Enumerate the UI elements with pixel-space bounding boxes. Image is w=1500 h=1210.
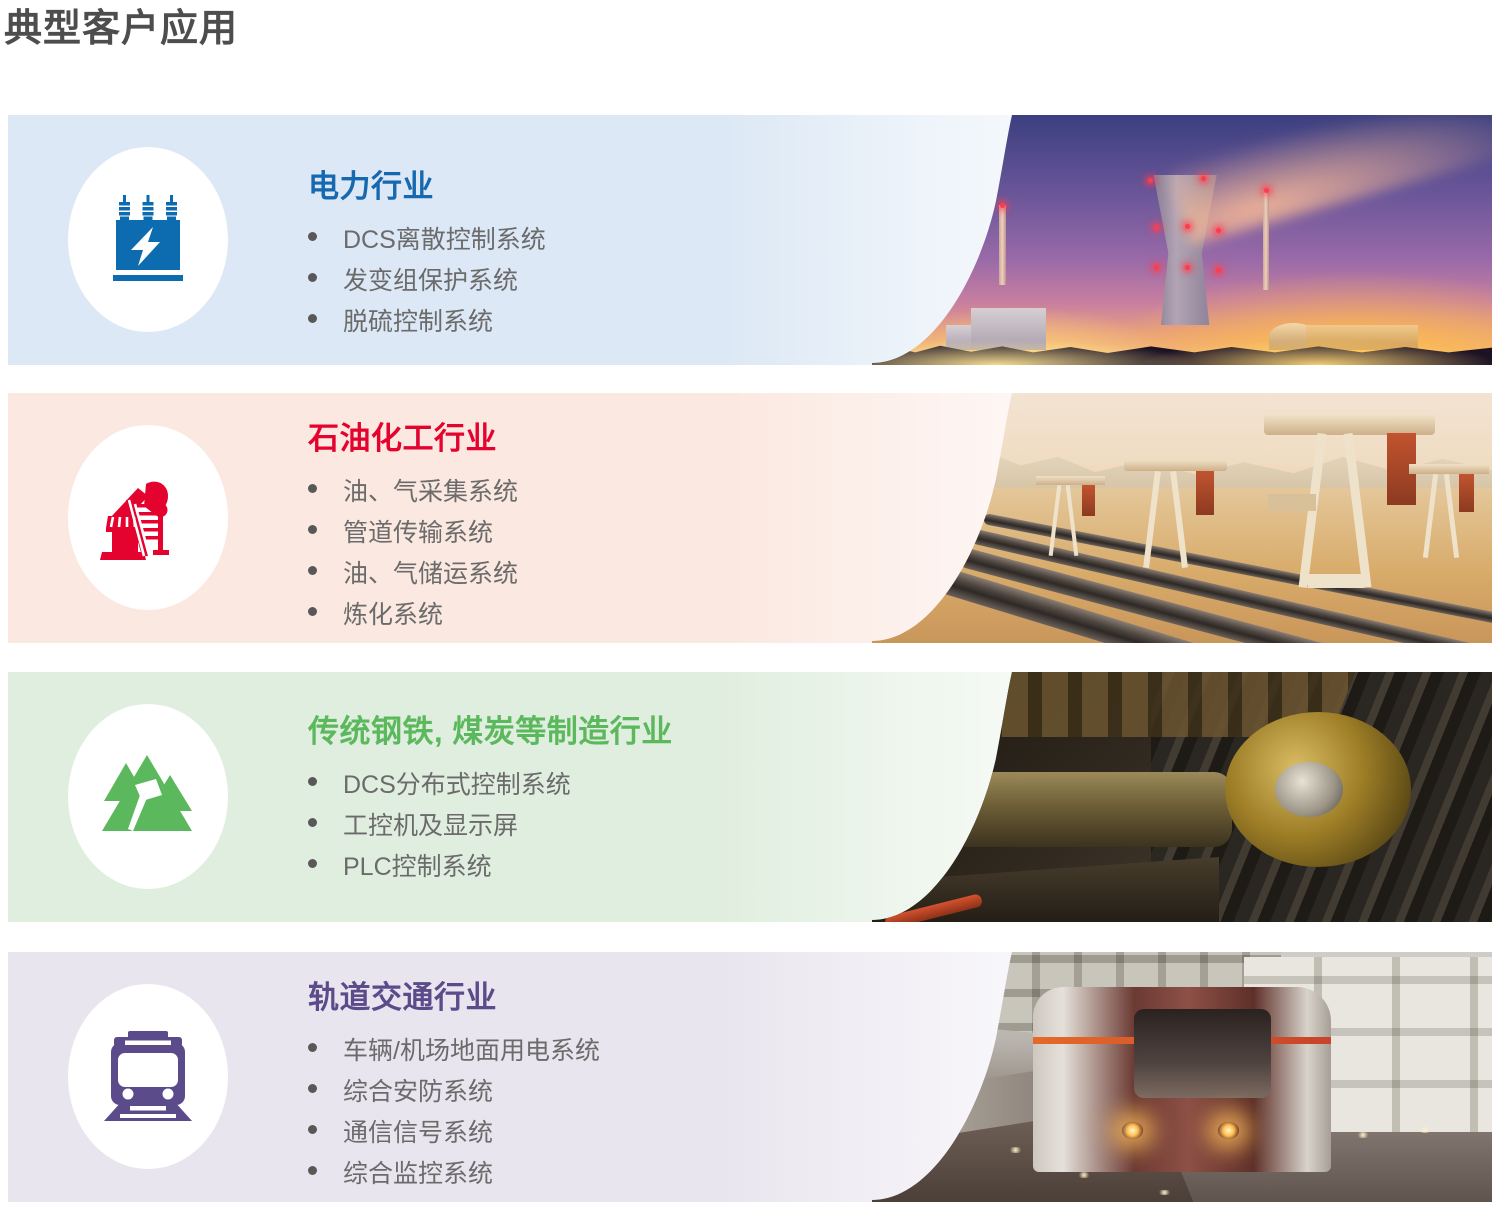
- bullet-dot-icon: [308, 232, 317, 241]
- list-item: 车辆/机场地面用电系统: [308, 1031, 600, 1072]
- card-heading-steel: 传统钢铁, 煤炭等制造行业: [308, 706, 673, 751]
- list-item-label: 综合安防系统: [343, 1072, 493, 1113]
- list-item: DCS离散控制系统: [308, 220, 546, 261]
- list-item-label: 油、气储运系统: [343, 554, 518, 595]
- mountain-pickaxe-icon: [100, 755, 196, 839]
- list-item-label: 通信信号系统: [343, 1113, 493, 1154]
- list-item-label: PLC控制系统: [343, 847, 492, 888]
- bullet-dot-icon: [308, 484, 317, 493]
- icon-badge-oil: [68, 425, 228, 610]
- industry-card-rail[interactable]: 轨道交通行业 车辆/机场地面用电系统 综合安防系统 通信信号系统 综合监控系统: [8, 952, 1492, 1202]
- industry-card-steel[interactable]: 传统钢铁, 煤炭等制造行业 DCS分布式控制系统 工控机及显示屏 PLC控制系统: [8, 672, 1492, 922]
- list-item-label: 管道传输系统: [343, 513, 493, 554]
- bullet-dot-icon: [308, 607, 317, 616]
- list-item: 炼化系统: [308, 595, 518, 636]
- icon-badge-rail: [68, 984, 228, 1169]
- list-item: 综合安防系统: [308, 1072, 600, 1113]
- bullet-list-power: DCS离散控制系统 发变组保护系统 脱硫控制系统: [308, 220, 546, 343]
- nuclear-power-plant-photo: [872, 115, 1492, 365]
- card-text-power: 电力行业 DCS离散控制系统 发变组保护系统 脱硫控制系统: [308, 161, 546, 343]
- bullet-dot-icon: [308, 859, 317, 868]
- card-photo-power: [872, 115, 1492, 365]
- list-item: 油、气采集系统: [308, 472, 518, 513]
- list-item: 油、气储运系统: [308, 554, 518, 595]
- bullet-dot-icon: [308, 1043, 317, 1052]
- list-item: 综合监控系统: [308, 1154, 600, 1195]
- list-item: 发变组保护系统: [308, 261, 546, 302]
- bullet-dot-icon: [308, 1084, 317, 1093]
- list-item: PLC控制系统: [308, 847, 673, 888]
- bullet-dot-icon: [308, 818, 317, 827]
- list-item: 通信信号系统: [308, 1113, 600, 1154]
- industry-card-power[interactable]: 电力行业 DCS离散控制系统 发变组保护系统 脱硫控制系统: [8, 115, 1492, 365]
- desert-oilfield-pipeline-photo: [872, 393, 1492, 643]
- metro-station-train-photo: [872, 952, 1492, 1202]
- card-photo-oil: [872, 393, 1492, 643]
- card-text-oil: 石油化工行业 油、气采集系统 管道传输系统 油、气储运系统 炼化系统: [308, 413, 518, 636]
- bullet-dot-icon: [308, 273, 317, 282]
- card-photo-rail: [872, 952, 1492, 1202]
- list-item-label: 综合监控系统: [343, 1154, 493, 1195]
- bullet-dot-icon: [308, 566, 317, 575]
- icon-badge-power: [68, 147, 228, 332]
- list-item-label: 炼化系统: [343, 595, 443, 636]
- list-item-label: DCS分布式控制系统: [343, 765, 571, 806]
- card-heading-oil: 石油化工行业: [308, 413, 518, 458]
- bullet-dot-icon: [308, 777, 317, 786]
- coal-mine-shearer-photo: [872, 672, 1492, 922]
- page-title: 典型客户应用: [4, 2, 238, 56]
- bullet-list-steel: DCS分布式控制系统 工控机及显示屏 PLC控制系统: [308, 765, 673, 888]
- bullet-list-rail: 车辆/机场地面用电系统 综合安防系统 通信信号系统 综合监控系统: [308, 1031, 600, 1195]
- list-item: 脱硫控制系统: [308, 302, 546, 343]
- card-photo-steel: [872, 672, 1492, 922]
- list-item-label: 油、气采集系统: [343, 472, 518, 513]
- typical-customer-applications-page: 典型客户应用: [0, 0, 1500, 1210]
- card-text-rail: 轨道交通行业 车辆/机场地面用电系统 综合安防系统 通信信号系统 综合监控系统: [308, 972, 600, 1195]
- bullet-dot-icon: [308, 1125, 317, 1134]
- metro-train-icon: [104, 1029, 192, 1125]
- transformer-icon: [105, 192, 191, 288]
- bullet-dot-icon: [308, 314, 317, 323]
- card-heading-rail: 轨道交通行业: [308, 972, 600, 1017]
- card-text-steel: 传统钢铁, 煤炭等制造行业 DCS分布式控制系统 工控机及显示屏 PLC控制系统: [308, 706, 673, 888]
- list-item-label: DCS离散控制系统: [343, 220, 546, 261]
- bullet-dot-icon: [308, 525, 317, 534]
- card-heading-power: 电力行业: [308, 161, 546, 206]
- icon-badge-steel: [68, 704, 228, 889]
- list-item-label: 车辆/机场地面用电系统: [343, 1031, 600, 1072]
- industry-card-oil[interactable]: 石油化工行业 油、气采集系统 管道传输系统 油、气储运系统 炼化系统: [8, 393, 1492, 643]
- oil-pumpjack-icon: [98, 470, 198, 566]
- list-item: 工控机及显示屏: [308, 806, 673, 847]
- list-item-label: 工控机及显示屏: [343, 806, 518, 847]
- list-item: 管道传输系统: [308, 513, 518, 554]
- bullet-dot-icon: [308, 1166, 317, 1175]
- list-item-label: 脱硫控制系统: [343, 302, 493, 343]
- list-item: DCS分布式控制系统: [308, 765, 673, 806]
- bullet-list-oil: 油、气采集系统 管道传输系统 油、气储运系统 炼化系统: [308, 472, 518, 636]
- list-item-label: 发变组保护系统: [343, 261, 518, 302]
